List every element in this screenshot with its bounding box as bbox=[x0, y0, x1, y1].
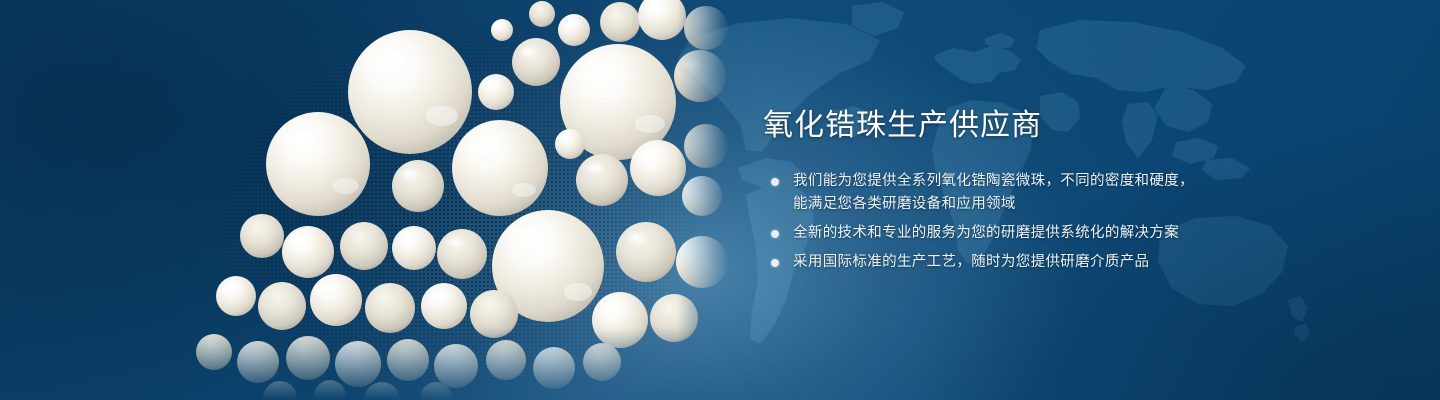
bullet-dot-icon bbox=[771, 259, 779, 267]
banner-content: 氧化锆珠生产供应商 我们能为您提供全系列氧化锆陶瓷微珠，不同的密度和硬度， 能满… bbox=[763, 108, 1403, 274]
feature-list: 我们能为您提供全系列氧化锆陶瓷微珠，不同的密度和硬度， 能满足您各类研磨设备和应… bbox=[763, 170, 1403, 274]
list-item: 全新的技术和专业的服务为您的研磨提供系统化的解决方案 bbox=[763, 222, 1403, 245]
hero-banner: 氧化锆珠生产供应商 我们能为您提供全系列氧化锆陶瓷微珠，不同的密度和硬度， 能满… bbox=[0, 0, 1440, 400]
bullet-dot-icon bbox=[771, 230, 779, 238]
bullet-text-wrap: 能满足您各类研磨设备和应用领域 bbox=[793, 193, 1403, 216]
bullet-text: 采用国际标准的生产工艺，随时为您提供研磨介质产品 bbox=[793, 251, 1403, 274]
zirconia-beads-image bbox=[150, 0, 730, 400]
list-item: 我们能为您提供全系列氧化锆陶瓷微珠，不同的密度和硬度， 能满足您各类研磨设备和应… bbox=[763, 170, 1403, 216]
bullet-text: 我们能为您提供全系列氧化锆陶瓷微珠，不同的密度和硬度， bbox=[793, 170, 1403, 193]
bullet-dot-icon bbox=[771, 178, 779, 186]
page-title: 氧化锆珠生产供应商 bbox=[763, 108, 1403, 144]
list-item: 采用国际标准的生产工艺，随时为您提供研磨介质产品 bbox=[763, 251, 1403, 274]
bullet-text: 全新的技术和专业的服务为您的研磨提供系统化的解决方案 bbox=[793, 222, 1403, 245]
